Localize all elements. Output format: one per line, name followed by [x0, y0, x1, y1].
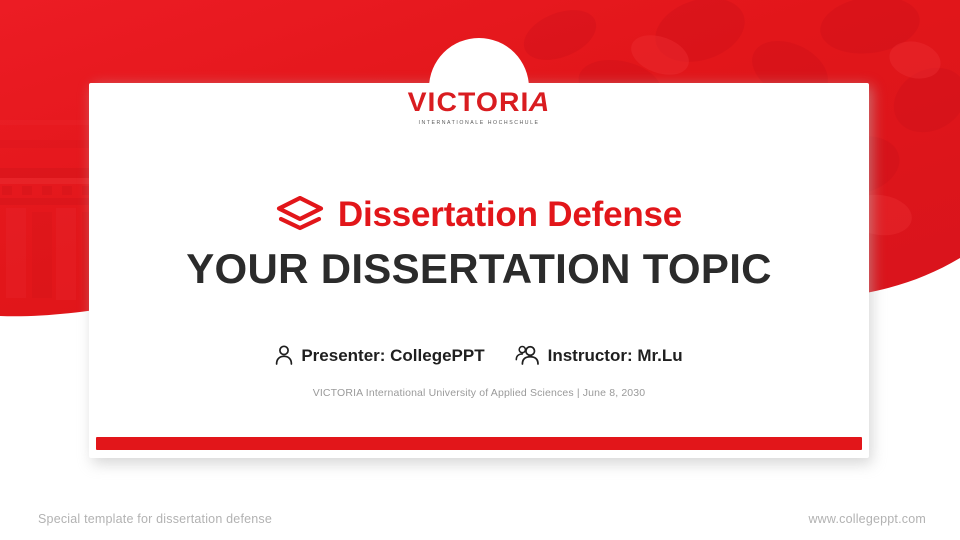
footer-website[interactable]: www.collegeppt.com	[808, 512, 926, 526]
logo-wordmark: VICTORIA	[407, 89, 550, 116]
instructor-label: Instructor: Mr.Lu	[548, 347, 683, 364]
page-title: YOUR DISSERTATION TOPIC	[89, 246, 869, 292]
presentation-slide: VICTORIA INTERNATIONALE HOCHSCHULE Disse…	[0, 0, 960, 540]
footer-note: Special template for dissertation defens…	[38, 512, 272, 526]
university-logo: VICTORIA INTERNATIONALE HOCHSCHULE	[89, 89, 869, 126]
instructor-item: Instructor: Mr.Lu	[515, 345, 683, 365]
logo-wordmark-slash: A	[526, 89, 554, 116]
institution-date-line: VICTORIA International University of App…	[89, 387, 869, 399]
presenter-label: Presenter: CollegePPT	[301, 347, 484, 364]
person-icon	[275, 345, 293, 365]
defense-title: Dissertation Defense	[338, 197, 682, 232]
people-group-icon	[515, 345, 540, 365]
credits-row: Presenter: CollegePPT Instructor: Mr.Lu	[89, 345, 869, 365]
graduation-cap-icon	[276, 196, 324, 232]
logo-subtitle: INTERNATIONALE HOCHSCHULE	[89, 120, 869, 126]
logo-wordmark-text: VICTORI	[407, 87, 529, 117]
title-card: VICTORIA INTERNATIONALE HOCHSCHULE Disse…	[89, 83, 869, 458]
defense-title-row: Dissertation Defense	[89, 196, 869, 232]
presenter-item: Presenter: CollegePPT	[275, 345, 484, 365]
card-accent-bar	[96, 437, 862, 450]
